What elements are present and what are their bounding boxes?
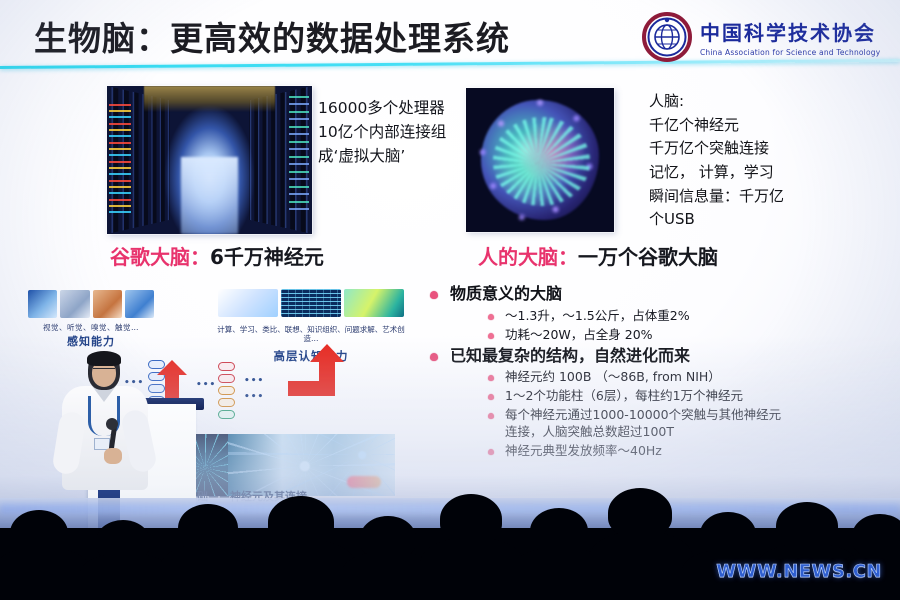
touch-icon (125, 290, 154, 318)
nn-ellipsis: ••• (244, 376, 264, 386)
cast-name-cn: 中国科学技术协会 (700, 17, 880, 46)
list-item: 功耗～20W，占全身 20% (488, 327, 890, 344)
datacenter-caption-line: 10亿个内部连接组 (318, 120, 468, 144)
list-item-label: 物质意义的大脑 (450, 284, 562, 305)
data-grid-icon (281, 289, 341, 317)
hearing-icon (60, 290, 89, 318)
datacenter-caption-line: 成‘虚拟大脑’ (318, 144, 468, 168)
bullet-marker-icon (488, 449, 494, 455)
vision-icon (28, 290, 57, 318)
nn-node (218, 410, 235, 419)
bullet-marker-icon (488, 314, 494, 320)
bullet-list: 物质意义的大脑 ～1.3升，～1.5公斤，占体重2% 功耗～20W，占全身 20… (430, 284, 890, 462)
math-icon (218, 289, 278, 317)
comparison-google-brain: 谷歌大脑：6千万神经元 (110, 241, 324, 270)
brain-fact-line: 千亿个神经元 (649, 114, 889, 138)
cast-logo-text: 中国科学技术协会 China Association for Science a… (700, 17, 880, 57)
bullet-marker-icon (488, 375, 494, 381)
list-item: 1～2个功能柱（6层），每柱约1万个神经元 (488, 388, 890, 405)
bullet-marker-icon (488, 394, 494, 400)
list-item: 神经元约 100B （～86B, from NIH） (488, 369, 890, 386)
up-arrow-base (288, 381, 335, 396)
list-item-label: 每个神经元通过1000-10000个突触与其他神经元 (505, 407, 781, 422)
cognition-thumbnails (218, 289, 404, 322)
brain-fact-line: 千万亿个突触连接 (649, 137, 889, 161)
datacenter-caption: 16000多个处理器 10亿个内部连接组 成‘虚拟大脑’ (318, 96, 468, 168)
nn-ellipsis: ••• (196, 380, 216, 390)
brain-fact-line: 人脑: (649, 90, 889, 114)
comparison-human-brain: 人的大脑：一万个谷歌大脑 (478, 241, 718, 270)
bullet-marker-icon (430, 353, 438, 361)
nn-node (218, 374, 235, 383)
comparison-label: 人的大脑： (478, 245, 578, 269)
brain-connectome-scan (466, 88, 614, 232)
comparison-label: 谷歌大脑： (110, 245, 210, 269)
bullet-marker-icon (430, 291, 438, 299)
art-icon (344, 289, 404, 317)
list-item: 已知最复杂的结构，自然进化而来 (430, 346, 890, 367)
cast-globe-emblem (642, 12, 692, 62)
bullet-marker-icon (488, 413, 494, 419)
list-item-label: 已知最复杂的结构，自然进化而来 (450, 346, 690, 367)
brain-fact-line: 瞬间信息量：千万亿 (649, 185, 889, 209)
nn-node (218, 386, 235, 395)
bullet-marker-icon (488, 333, 494, 339)
brain-facts-list: 人脑: 千亿个神经元 千万亿个突触连接 记忆， 计算，学习 瞬间信息量：千万亿 … (649, 90, 889, 232)
perception-caption-small: 视觉、听觉、嗅觉、触觉… (24, 322, 158, 333)
nn-node (218, 398, 235, 407)
comparison-value: 6千万神经元 (210, 245, 324, 269)
cast-name-en: China Association for Science and Techno… (700, 48, 880, 57)
smell-icon (93, 290, 122, 318)
list-item: 每个神经元通过1000-10000个突触与其他神经元连接，人脑突触总数超过100… (488, 407, 890, 441)
cast-logo: 中国科学技术协会 China Association for Science a… (642, 8, 892, 66)
list-item: 神经元典型发放频率～40Hz (488, 443, 890, 460)
perception-caption-title: 感知能力 (24, 333, 158, 349)
list-item-label: ～1.3升，～1.5公斤，占体重2% (505, 308, 690, 325)
list-item-label: 功耗～20W，占全身 20% (505, 327, 653, 344)
comparison-value: 一万个谷歌大脑 (578, 245, 718, 269)
list-item-continuation: 连接，人脑突触总数超过100T (505, 424, 781, 441)
watermark: WWW.NEWS.CN (716, 561, 882, 582)
list-item-label: 神经元约 100B （～86B, from NIH） (505, 369, 721, 386)
nn-node (218, 362, 235, 371)
brain-fact-line: 记忆， 计算，学习 (649, 161, 889, 185)
nn-layer-cognition (218, 362, 235, 419)
cognition-caption-small: 计算、学习、类比、联想、知识组织、问题求解、艺术创造… (212, 325, 410, 344)
page-title: 生物脑：更高效的数据处理系统 (34, 12, 510, 60)
photograph-scene: 生物脑：更高效的数据处理系统 中国科学技术协会 China Associatio… (0, 0, 900, 600)
glasses-icon (93, 368, 115, 373)
perception-thumbnails (28, 290, 154, 318)
list-item: 物质意义的大脑 (430, 284, 890, 305)
list-item: ～1.3升，～1.5公斤，占体重2% (488, 308, 890, 325)
server-room-photo (107, 86, 312, 234)
list-item-label: 1～2个功能柱（6层），每柱约1万个神经元 (505, 388, 743, 405)
brain-fact-line: 个USB (649, 208, 889, 232)
datacenter-caption-line: 16000多个处理器 (318, 96, 468, 120)
nn-ellipsis: ••• (244, 392, 264, 402)
list-item-label: 神经元典型发放频率～40Hz (505, 443, 662, 460)
